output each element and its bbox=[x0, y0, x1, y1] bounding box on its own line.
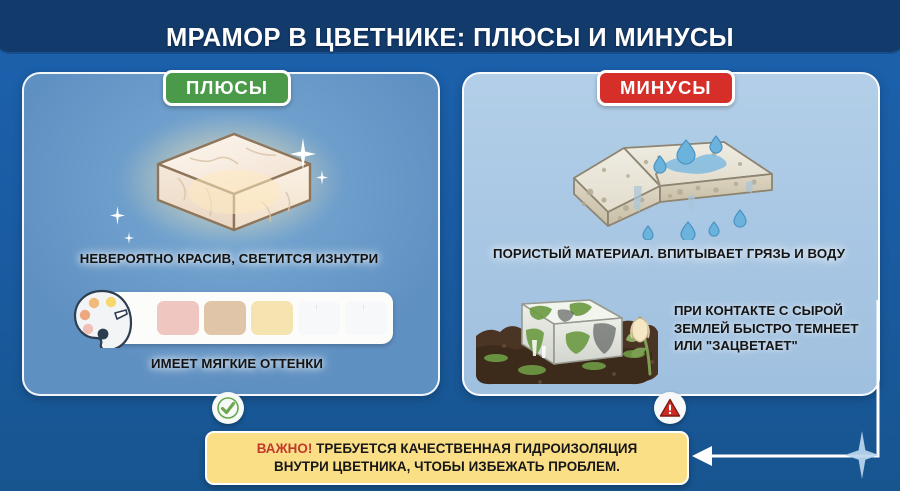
important-banner: ВАЖНО! ТРЕБУЕТСЯ КАЧЕСТВЕННАЯ ГИДРОИЗОЛЯ… bbox=[205, 431, 689, 485]
cons-caption-1: ПОРИСТЫЙ МАТЕРИАЛ. ВПИТЫВАЕТ ГРЯЗЬ И ВОД… bbox=[462, 246, 876, 261]
warning-triangle-icon bbox=[659, 397, 681, 419]
badge-pros: ПЛЮСЫ bbox=[163, 70, 291, 106]
page-title: МРАМОР В ЦВЕТНИКЕ: ПЛЮСЫ И МИНУСЫ bbox=[0, 24, 900, 53]
badge-cons: МИНУСЫ bbox=[597, 70, 735, 106]
infographic-canvas: МРАМОР В ЦВЕТНИКЕ: ПЛЮСЫ И МИНУСЫ bbox=[0, 0, 900, 491]
cons-status-badge bbox=[654, 392, 686, 424]
banner-line-1-rest: ТРЕБУЕТСЯ КАЧЕСТВЕННАЯ ГИДРОИЗОЛЯЦИЯ bbox=[312, 441, 637, 456]
pros-caption-1: НЕВЕРОЯТНО КРАСИВ, СВЕТИТСЯ ИЗНУТРИ bbox=[22, 251, 436, 266]
swatch-marble-white-2 bbox=[345, 301, 387, 335]
swatch-pink bbox=[157, 301, 199, 335]
pros-status-badge bbox=[212, 392, 244, 424]
swatch-yellow bbox=[251, 301, 293, 335]
swatch-beige bbox=[204, 301, 246, 335]
check-circle-icon bbox=[217, 397, 239, 419]
artist-palette-icon bbox=[72, 288, 134, 348]
banner-line-1: ВАЖНО! ТРЕБУЕТСЯ КАЧЕСТВЕННАЯ ГИДРОИЗОЛЯ… bbox=[257, 440, 638, 458]
glowing-marble-cube-icon bbox=[150, 130, 318, 238]
swatch-marble-white-1 bbox=[298, 301, 340, 335]
pros-caption-2: ИМЕЕТ МЯГКИЕ ОТТЕНКИ bbox=[112, 356, 362, 371]
banner-line-2: ВНУТРИ ЦВЕТНИКА, ЧТОБЫ ИЗБЕЖАТЬ ПРОБЛЕМ. bbox=[274, 458, 620, 476]
porous-slab-icon bbox=[564, 130, 782, 240]
banner-accent-word: ВАЖНО! bbox=[257, 441, 313, 456]
